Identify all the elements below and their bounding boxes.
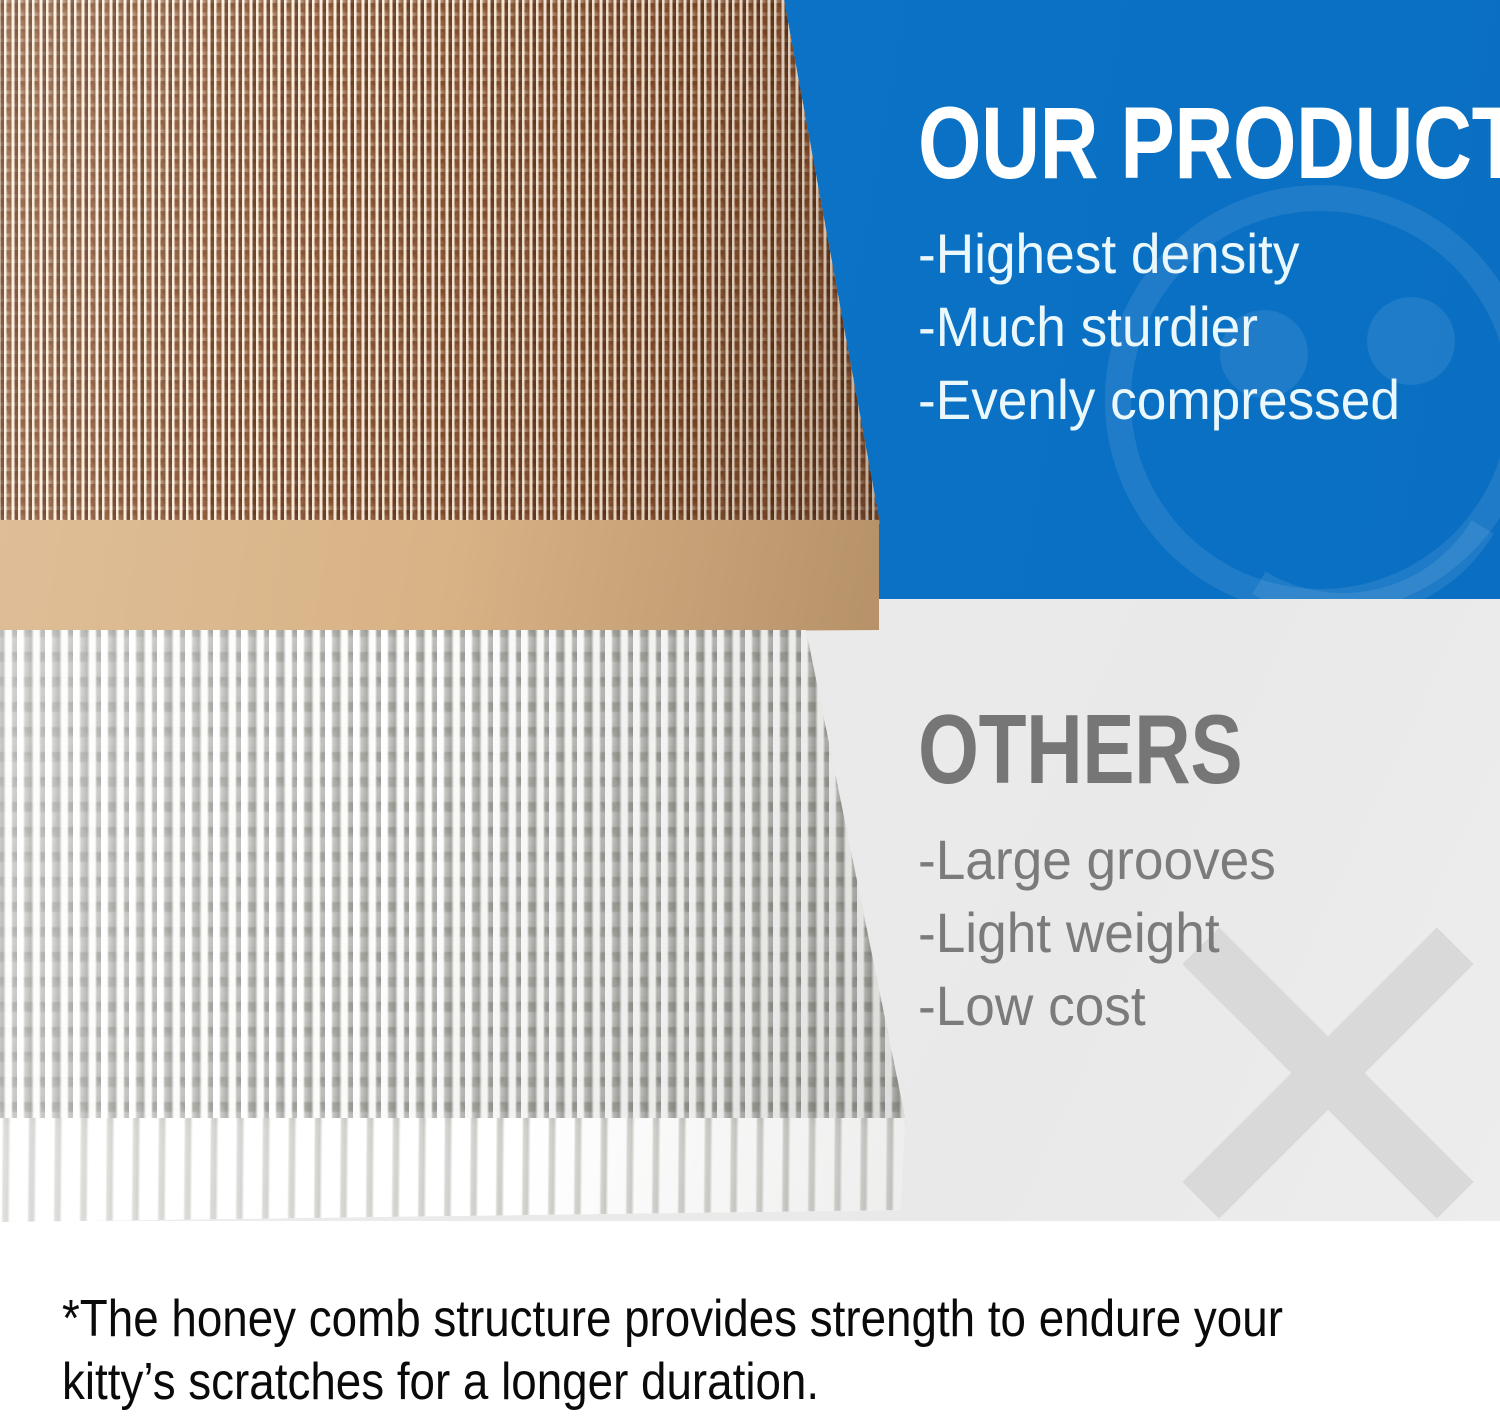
- others-bullet-2: -Light weight: [918, 897, 1460, 970]
- white-pad-edge-shading: [0, 1118, 940, 1222]
- others-bullet-list: -Large grooves -Light weight -Low cost: [918, 824, 1488, 1042]
- our-product-bullet-3: -Evenly compressed: [918, 364, 1460, 437]
- our-product-bullet-list: -Highest density -Much sturdier -Evenly …: [918, 218, 1488, 436]
- others-bullet-3: -Low cost: [918, 970, 1460, 1043]
- cardboard-shading: [0, 0, 890, 524]
- others-text-block: OTHERS -Large grooves -Light weight -Low…: [918, 700, 1488, 1042]
- our-product-bullet-2: -Much sturdier: [918, 291, 1460, 364]
- white-pad-honeycomb-photo: [0, 630, 940, 1122]
- infographic-page: OUR PRODUCT -Highest density -Much sturd…: [0, 0, 1500, 1424]
- footnote-caption: *The honey comb structure provides stren…: [62, 1288, 1294, 1415]
- our-product-text-block: OUR PRODUCT -Highest density -Much sturd…: [918, 92, 1488, 436]
- cardboard-edge-photo: [0, 520, 890, 636]
- cardboard-honeycomb-photo: [0, 0, 890, 524]
- our-product-bullet-1: -Highest density: [918, 218, 1460, 291]
- white-pad-shading: [0, 630, 940, 1122]
- others-heading: OTHERS: [918, 700, 1374, 798]
- our-product-heading: OUR PRODUCT: [918, 92, 1374, 194]
- cardboard-edge-shading: [0, 520, 890, 636]
- white-pad-edge-photo: [0, 1118, 940, 1222]
- others-bullet-1: -Large grooves: [918, 824, 1460, 897]
